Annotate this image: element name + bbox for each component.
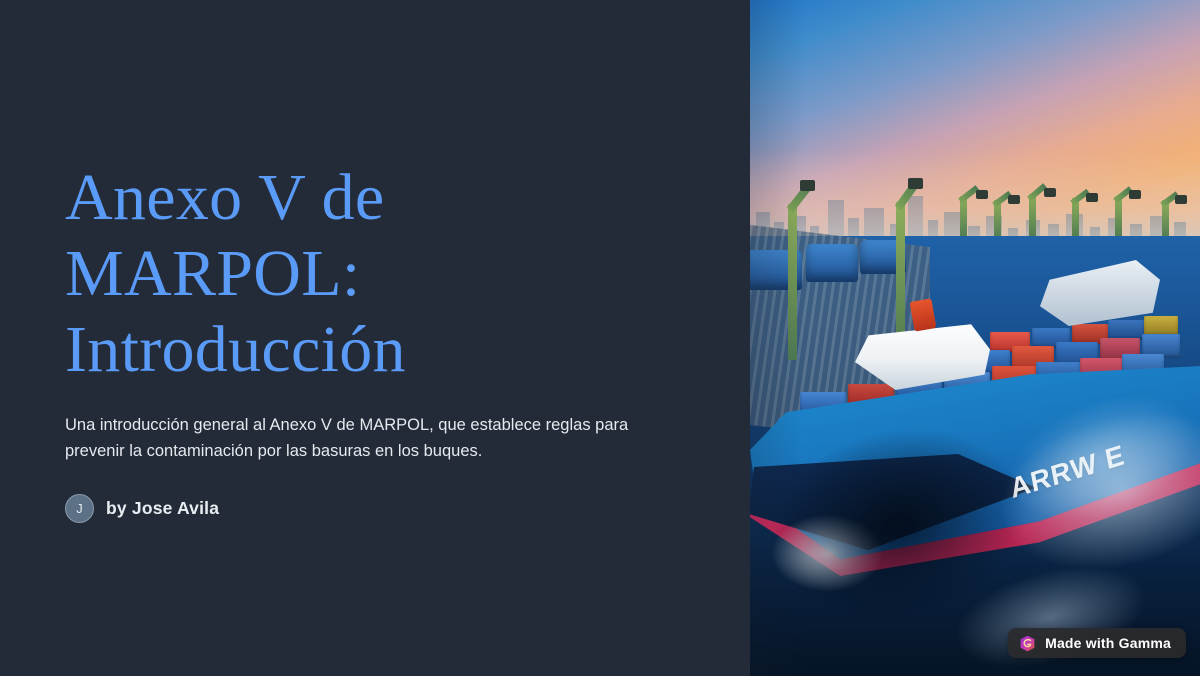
gamma-badge-label: Made with Gamma bbox=[1045, 635, 1171, 651]
harbor-crane bbox=[1060, 190, 1100, 240]
slide-hero-image: ARRW E bbox=[750, 0, 1200, 676]
author-name: by Jose Avila bbox=[106, 498, 219, 519]
presentation-slide: Anexo V de MARPOL: Introducción Una intr… bbox=[0, 0, 1200, 676]
avatar: J bbox=[65, 494, 94, 523]
made-with-gamma-badge[interactable]: Made with Gamma bbox=[1008, 628, 1186, 658]
harbor-crane bbox=[1150, 192, 1190, 242]
slide-content: Anexo V de MARPOL: Introducción Una intr… bbox=[65, 160, 685, 523]
page-title: Anexo V de MARPOL: Introducción bbox=[65, 160, 685, 388]
slide-subtitle: Una introducción general al Anexo V de M… bbox=[65, 412, 680, 464]
harbor-crane bbox=[1102, 188, 1142, 240]
harbor-crane bbox=[946, 188, 986, 238]
harbor-crane bbox=[1016, 186, 1056, 240]
gamma-logo-icon bbox=[1019, 635, 1036, 652]
author-byline-row: J by Jose Avila bbox=[65, 494, 685, 523]
ship-funnel bbox=[910, 298, 937, 331]
harbor-photo: ARRW E bbox=[750, 0, 1200, 676]
slide-text-panel: Anexo V de MARPOL: Introducción Una intr… bbox=[0, 0, 750, 676]
ship-bridge bbox=[1040, 260, 1160, 326]
